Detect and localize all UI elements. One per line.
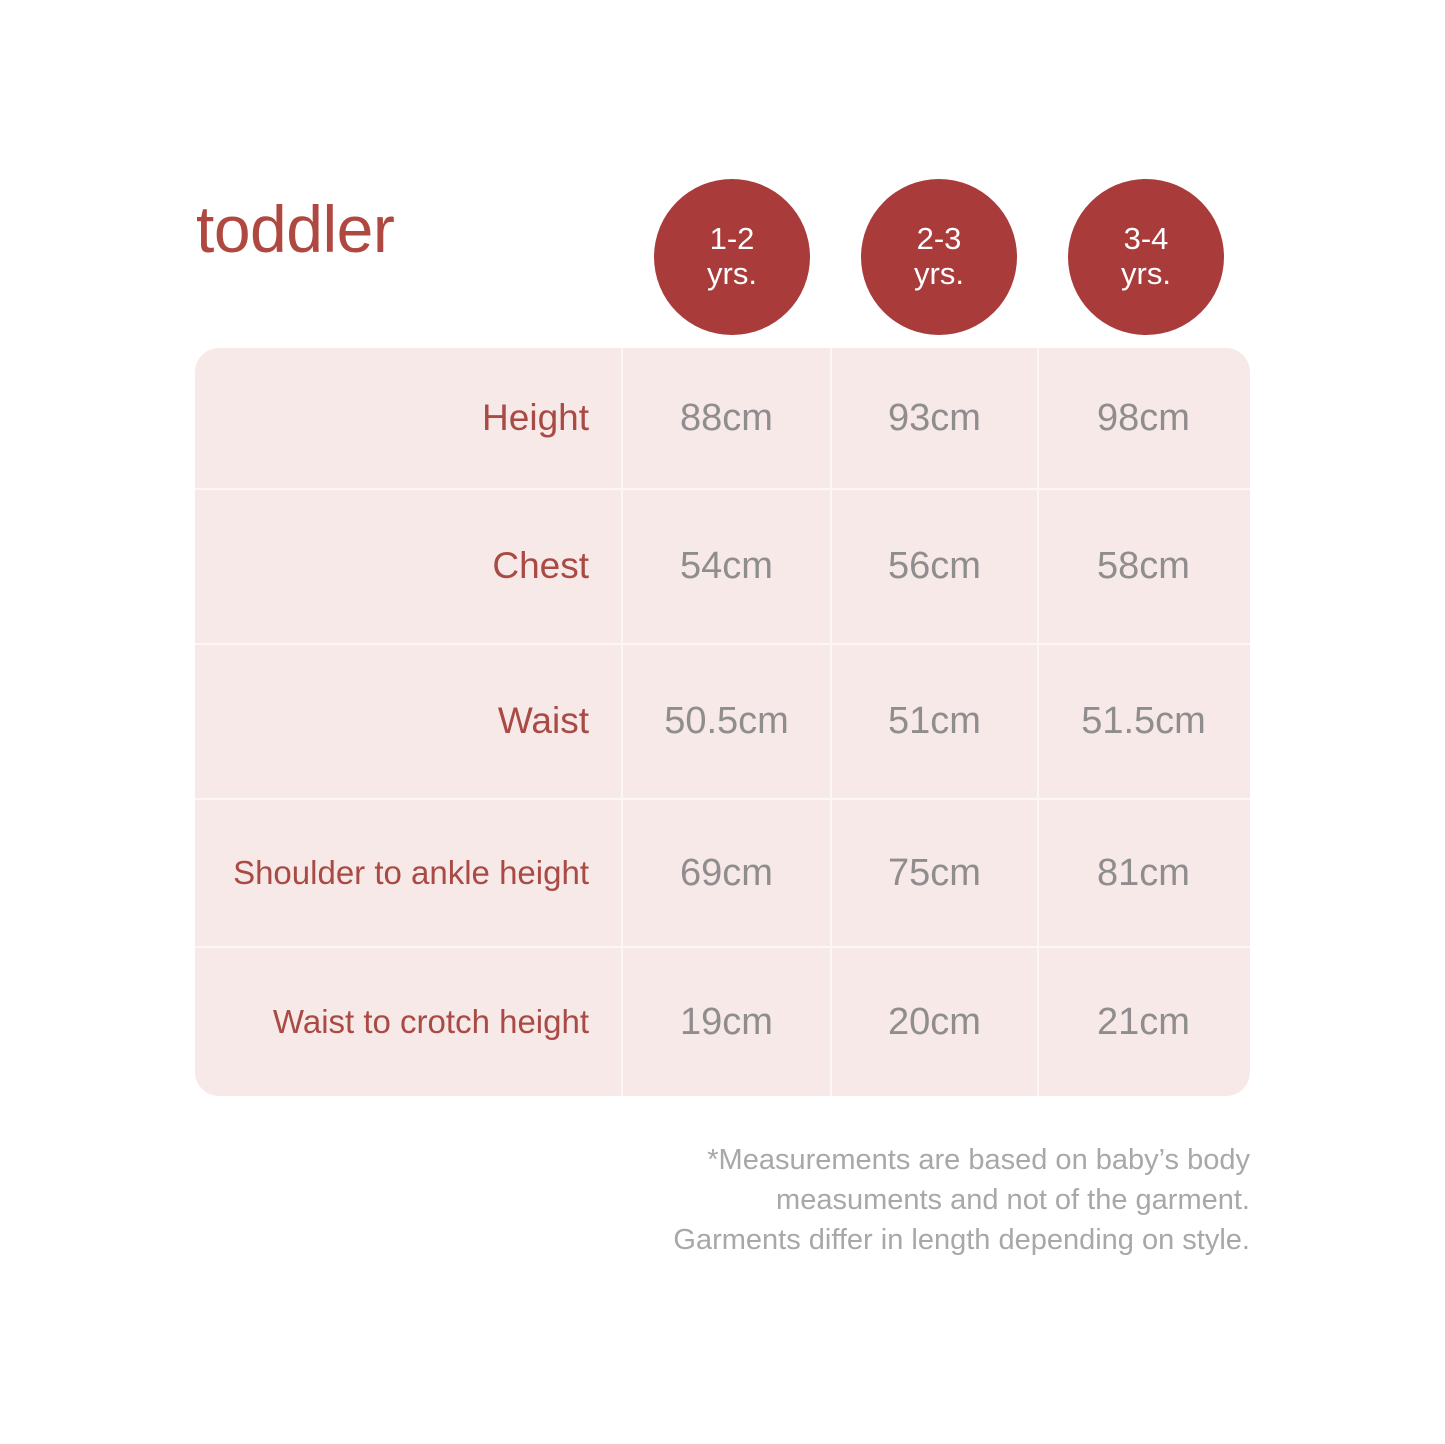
age-badge-unit: yrs. [707, 257, 757, 292]
table-row: Shoulder to ankle height 69cm 75cm 81cm [195, 798, 1250, 946]
cell-height-2-3: 93cm [830, 348, 1037, 488]
age-badge-3-4-yrs: 3-4 yrs. [1068, 179, 1224, 335]
row-label-waist: Waist [195, 645, 621, 798]
age-badge-range: 1-2 [710, 222, 755, 257]
age-badge-1-2-yrs: 1-2 yrs. [654, 179, 810, 335]
row-label-waist-to-crotch-height: Waist to crotch height [195, 948, 621, 1096]
cell-chest-1-2: 54cm [621, 490, 830, 643]
row-label-height: Height [195, 348, 621, 488]
age-badge-unit: yrs. [1121, 257, 1171, 292]
size-chart-page: toddler 1-2 yrs. 2-3 yrs. 3-4 yrs. Heigh… [0, 0, 1445, 1444]
cell-chest-2-3: 56cm [830, 490, 1037, 643]
cell-shoulder-to-ankle-1-2: 69cm [621, 800, 830, 946]
row-label-chest: Chest [195, 490, 621, 643]
cell-shoulder-to-ankle-3-4: 81cm [1037, 800, 1248, 946]
page-title: toddler [196, 196, 394, 262]
measurements-table: Height 88cm 93cm 98cm Chest 54cm 56cm 58… [195, 348, 1250, 1096]
age-badge-range: 2-3 [917, 222, 962, 257]
age-badge-2-3-yrs: 2-3 yrs. [861, 179, 1017, 335]
cell-height-3-4: 98cm [1037, 348, 1248, 488]
footnote-line-1: *Measurements are based on baby’s body [550, 1140, 1250, 1180]
cell-waist-to-crotch-3-4: 21cm [1037, 948, 1248, 1096]
table-row: Waist 50.5cm 51cm 51.5cm [195, 643, 1250, 798]
cell-height-1-2: 88cm [621, 348, 830, 488]
age-badge-unit: yrs. [914, 257, 964, 292]
table-row: Chest 54cm 56cm 58cm [195, 488, 1250, 643]
cell-waist-3-4: 51.5cm [1037, 645, 1248, 798]
cell-waist-1-2: 50.5cm [621, 645, 830, 798]
cell-waist-to-crotch-1-2: 19cm [621, 948, 830, 1096]
row-label-shoulder-to-ankle-height: Shoulder to ankle height [195, 800, 621, 946]
footnote: *Measurements are based on baby’s body m… [550, 1140, 1250, 1260]
footnote-line-3: Garments differ in length depending on s… [550, 1220, 1250, 1260]
cell-waist-to-crotch-2-3: 20cm [830, 948, 1037, 1096]
age-badge-range: 3-4 [1124, 222, 1169, 257]
table-row: Waist to crotch height 19cm 20cm 21cm [195, 946, 1250, 1096]
cell-chest-3-4: 58cm [1037, 490, 1248, 643]
footnote-line-2: measuments and not of the garment. [550, 1180, 1250, 1220]
cell-waist-2-3: 51cm [830, 645, 1037, 798]
age-badge-group: 1-2 yrs. 2-3 yrs. 3-4 yrs. [621, 179, 1250, 337]
cell-shoulder-to-ankle-2-3: 75cm [830, 800, 1037, 946]
table-row: Height 88cm 93cm 98cm [195, 348, 1250, 488]
